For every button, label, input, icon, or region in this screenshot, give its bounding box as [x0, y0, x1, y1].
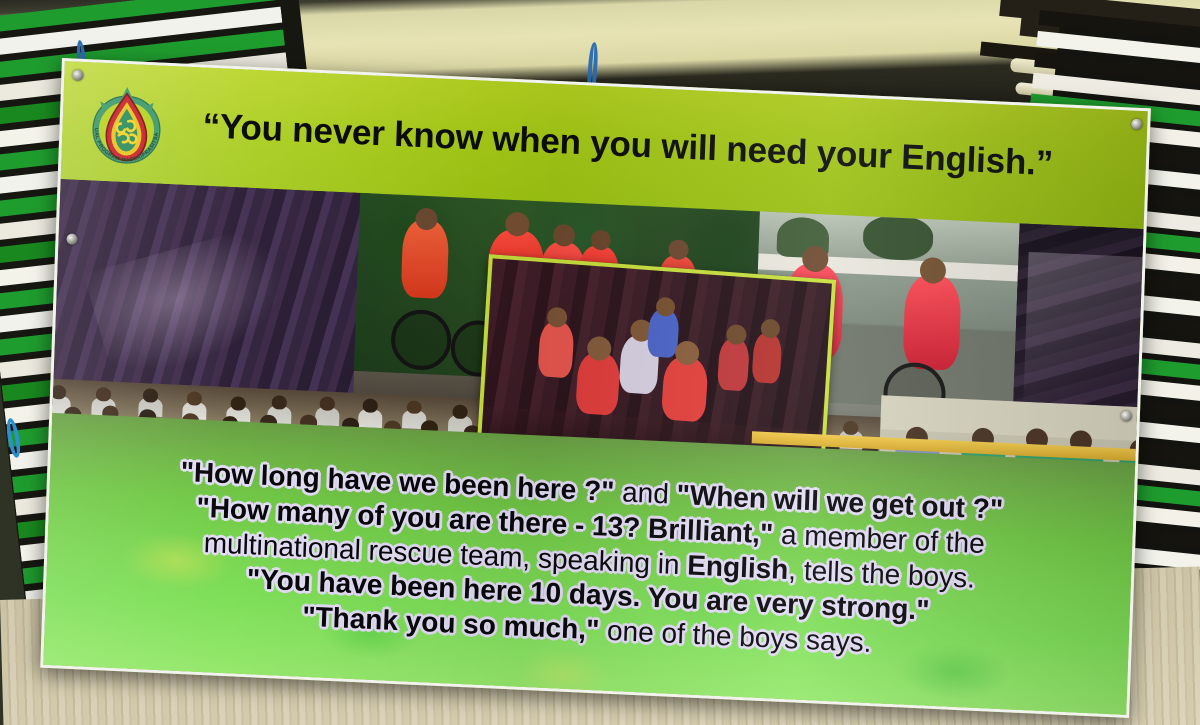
- quote-normal: , tells the boys.: [788, 554, 976, 594]
- quote-emphasis: English: [687, 549, 789, 585]
- school-banner: “You never know when you will need your …: [40, 58, 1151, 718]
- photograph-scene: “You never know when you will need your …: [0, 0, 1200, 725]
- school-crest-icon-left: MULTILINGUAL PROGRAM MAESAIPRASITSART SC…: [84, 81, 170, 179]
- quote-normal: and: [614, 476, 677, 510]
